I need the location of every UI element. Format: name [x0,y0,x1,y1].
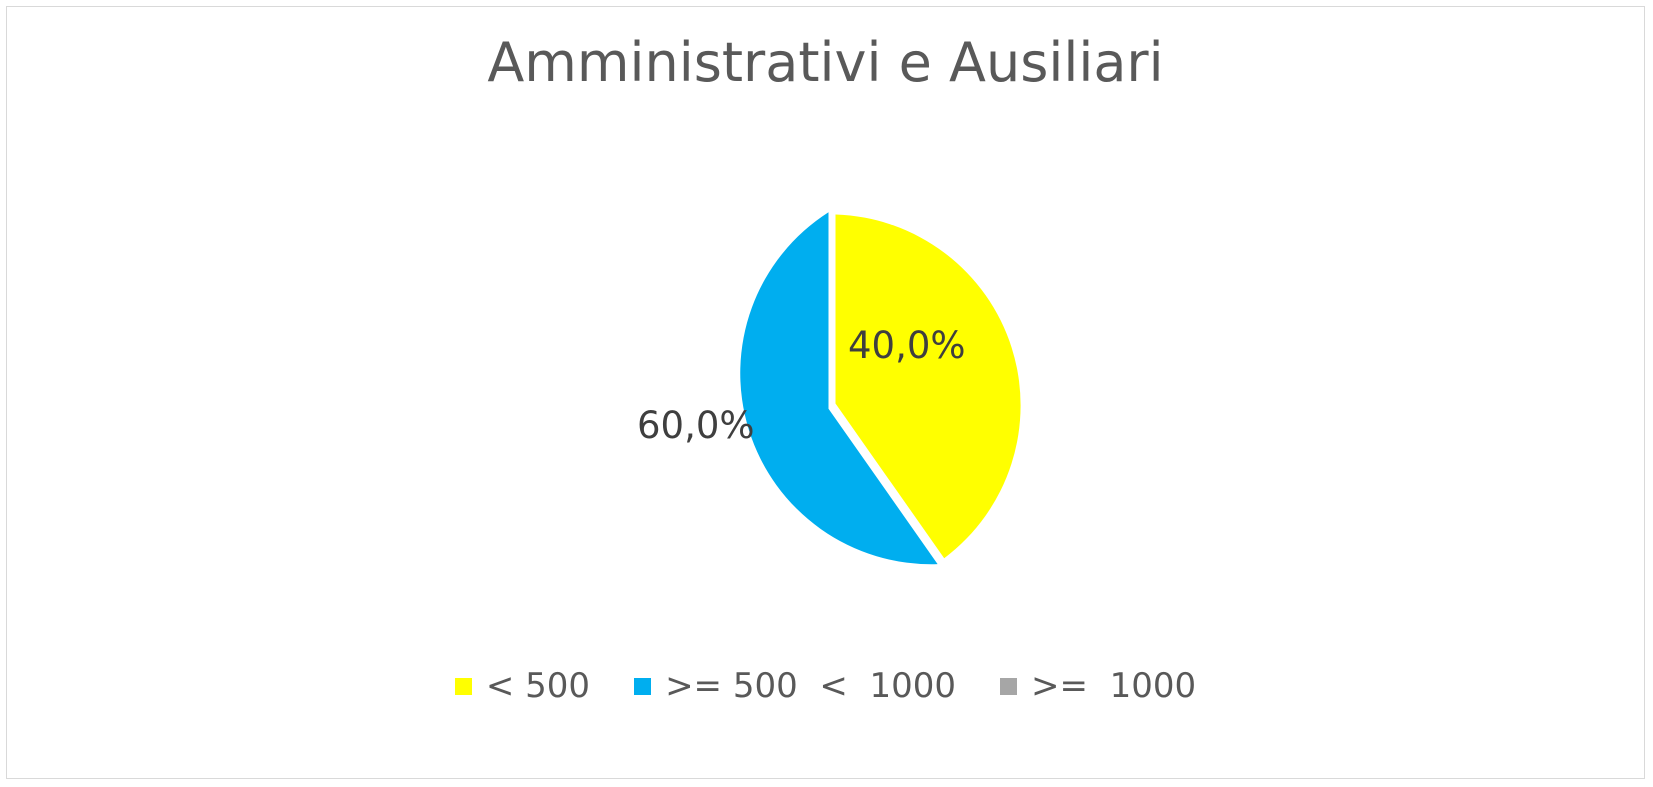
legend-item-label: >= 1000 [1031,669,1196,703]
legend-swatch-icon [634,678,651,695]
chart-legend: < 500 >= 500 < 1000 >= 1000 [7,669,1644,703]
legend-item-500-to-1000[interactable]: >= 500 < 1000 [634,669,956,703]
legend-item-label: >= 500 < 1000 [665,669,956,703]
legend-item-label: < 500 [486,669,590,703]
legend-item-gte-1000[interactable]: >= 1000 [1000,669,1196,703]
pie-slice-value-label: 40,0% [848,327,966,364]
legend-item-lt-500[interactable]: < 500 [455,669,590,703]
legend-swatch-icon [1000,678,1017,695]
pie-slice-value-label: 60,0% [637,407,755,444]
pie-chart-plot-area: 40,0% 60,0% [636,209,1030,603]
legend-swatch-icon [455,678,472,695]
chart-container: Amministrativi e Ausiliari 40,0% 60,0% <… [6,6,1645,779]
chart-title: Amministrativi e Ausiliari [7,33,1644,92]
